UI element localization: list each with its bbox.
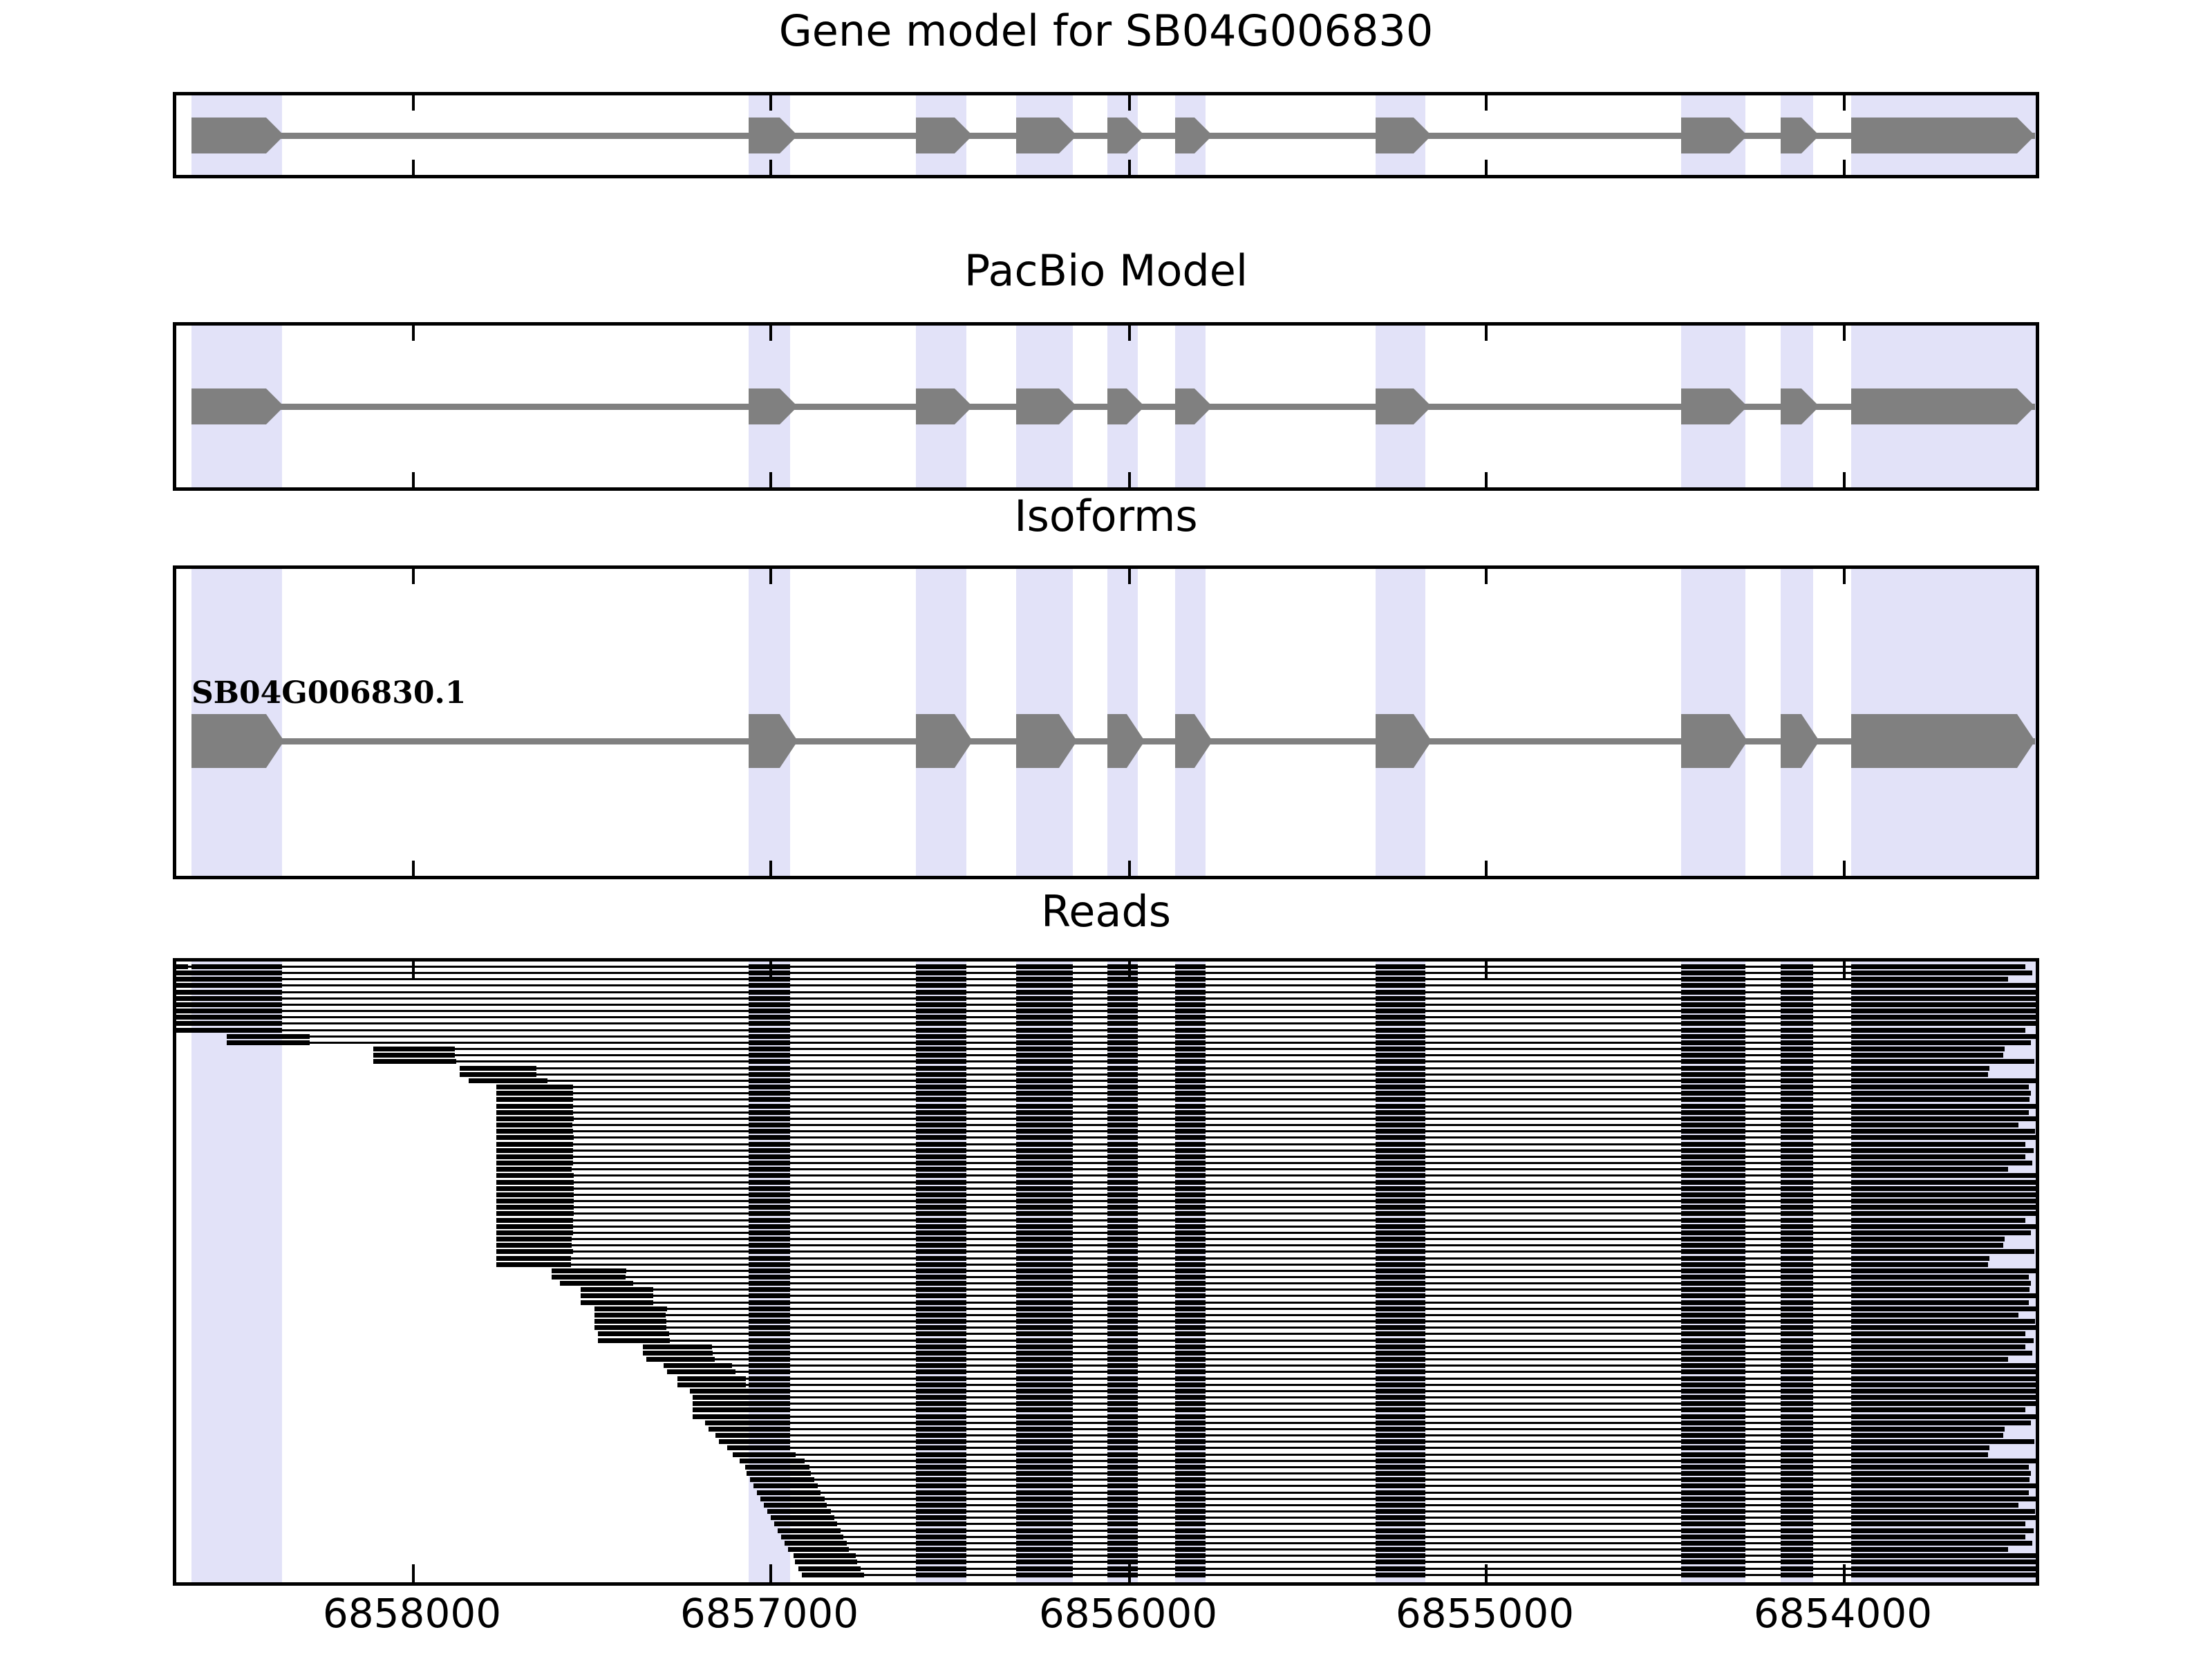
read-exon-block (1107, 1148, 1138, 1153)
read-start-block (795, 1559, 857, 1564)
read-exon-block (1781, 1465, 1813, 1470)
exon-block (749, 714, 798, 768)
read-exon-block (1175, 1459, 1206, 1463)
read-exon-block (1781, 1528, 1813, 1533)
read-start-block (496, 1186, 574, 1191)
read-exon-block (1107, 1427, 1138, 1432)
read-exon-block (1175, 1015, 1206, 1020)
read-exon-block (1016, 1287, 1073, 1292)
read-exon-block (1016, 1091, 1073, 1096)
read-exon-block (1175, 1180, 1206, 1185)
read-exon-block (1107, 1559, 1138, 1564)
read-exon-block (749, 1097, 790, 1102)
read-exon-block (1781, 1421, 1813, 1425)
read-exon-block (749, 1021, 790, 1026)
read-exon-block (1781, 1407, 1813, 1412)
read-exon-block (1175, 1547, 1206, 1552)
read-start-block (785, 1541, 847, 1546)
read-exon-block (749, 1180, 790, 1185)
read-exon-block (916, 1015, 966, 1020)
read-end-block (1976, 1173, 2038, 1178)
read-exon-block (1107, 1389, 1138, 1394)
read-exon-block (1376, 1528, 1425, 1533)
read-start-block (173, 1028, 249, 1033)
read-exon-block (749, 1313, 790, 1318)
read-start-block (496, 1262, 571, 1267)
read-exon-block (1016, 1395, 1073, 1400)
read-exon-block (749, 1161, 790, 1165)
read-exon-block (1376, 1535, 1425, 1539)
read-exon-block (1781, 1477, 1813, 1482)
read-exon-block (1175, 1521, 1206, 1526)
read-start-block (227, 1040, 310, 1045)
read-exon-block (916, 1414, 966, 1419)
read-exon-block (749, 1072, 790, 1077)
read-exon-block (1376, 1002, 1425, 1007)
read-exon-block (1175, 1421, 1206, 1425)
read-exon-block (916, 1205, 966, 1210)
axis-tick (1128, 569, 1131, 584)
read-exon-block (1781, 1148, 1813, 1153)
read-exon-block (1781, 1351, 1813, 1356)
read-end-block (1983, 1541, 2032, 1546)
read-exon-block (1016, 1351, 1073, 1356)
read-end-block (1928, 1066, 1989, 1071)
read-start-block (552, 1275, 626, 1280)
read-exon-block (1681, 1040, 1745, 1045)
read-start-block (750, 1477, 814, 1482)
read-exon-block (1376, 1313, 1425, 1318)
exon-block (749, 118, 798, 153)
read-exon-block (916, 1268, 966, 1273)
read-exon-block (1781, 1497, 1813, 1501)
read-start-block (173, 983, 206, 988)
read-exon-block (1376, 1199, 1425, 1203)
read-exon-block (1107, 1173, 1138, 1178)
read-exon-block (1016, 1445, 1073, 1450)
axis-tick (1485, 472, 1488, 487)
read-exon-block (1016, 1129, 1073, 1134)
read-exon-block (916, 1097, 966, 1102)
read-end-block (1972, 1407, 2025, 1412)
read-exon-block (916, 1116, 966, 1121)
read-exon-block (1107, 1407, 1138, 1412)
read-exon-block (749, 1369, 790, 1374)
read-exon-block (1016, 1211, 1073, 1216)
read-exon-block (749, 1306, 790, 1311)
read-exon-block (1107, 1344, 1138, 1349)
read-exon-block (1781, 1129, 1813, 1134)
read-exon-block (1016, 1243, 1073, 1248)
read-intron-line (643, 1352, 2032, 1354)
read-exon-block (1376, 1452, 1425, 1457)
read-intron-line (173, 1016, 2039, 1018)
read-start-block (496, 1256, 571, 1261)
read-exon-block (1781, 1515, 1813, 1520)
read-exon-block (1376, 1192, 1425, 1197)
read-exon-block (1781, 1445, 1813, 1450)
read-exon-block (1016, 1148, 1073, 1153)
read-exon-block (1781, 1078, 1813, 1083)
read-exon-block (1681, 1459, 1745, 1463)
read-exon-block (1376, 1154, 1425, 1159)
read-end-block (1965, 1218, 2025, 1223)
read-end-block (1974, 1224, 2036, 1229)
read-start-block (719, 1439, 785, 1444)
read-end-block (1978, 990, 2039, 995)
read-intron-line (173, 997, 2039, 1000)
read-exon-block (1376, 1142, 1425, 1147)
reads-panel (173, 958, 2039, 1586)
read-exon-block (1175, 1028, 1206, 1033)
read-end-block (1953, 1357, 2008, 1362)
axis-tick (412, 569, 415, 584)
read-exon-block (1376, 1167, 1425, 1172)
read-exon-block (1376, 1566, 1425, 1571)
read-exon-block (1781, 1211, 1813, 1216)
read-start-block (646, 1357, 715, 1362)
read-exon-block (1016, 1078, 1073, 1083)
read-exon-block (1376, 1293, 1425, 1298)
read-exon-block (1681, 1477, 1745, 1482)
read-end-block (1978, 1192, 2039, 1197)
read-exon-block (749, 1085, 790, 1089)
read-exon-block (749, 964, 790, 969)
read-exon-block (1175, 1059, 1206, 1064)
axis-tick (1485, 569, 1488, 584)
read-exon-block (1016, 1300, 1073, 1305)
read-start-block (496, 1211, 574, 1216)
read-start-block (715, 1433, 780, 1438)
read-end-block (1989, 1573, 2039, 1577)
panel-title-reads: Reads (0, 886, 2212, 937)
read-end-block (1962, 1313, 2018, 1318)
read-exon-block (749, 1015, 790, 1020)
exon-block (1781, 118, 1819, 153)
read-intron-line (173, 1004, 2039, 1006)
read-exon-block (749, 1363, 790, 1368)
read-start-block (594, 1313, 666, 1318)
read-exon-block (1376, 1091, 1425, 1096)
read-exon-block (1781, 1427, 1813, 1432)
read-end-block (1978, 1021, 2039, 1026)
read-exon-block (1016, 1325, 1073, 1330)
read-exon-block (1016, 1515, 1073, 1520)
read-exon-block (916, 1477, 966, 1482)
read-exon-block (1016, 1110, 1073, 1115)
read-exon-block (1376, 1015, 1425, 1020)
read-start-block (496, 1085, 573, 1089)
read-exon-block (1175, 1389, 1206, 1394)
read-exon-block (749, 1034, 790, 1039)
read-start-block (677, 1376, 746, 1381)
read-exon-block (1376, 1433, 1425, 1438)
read-start-block (496, 1091, 573, 1096)
read-exon-block (1016, 1218, 1073, 1223)
read-start-block (496, 1192, 574, 1197)
read-exon-block (916, 1319, 966, 1324)
read-exon-block (1107, 1072, 1138, 1077)
read-exon-block (1175, 1515, 1206, 1520)
read-end-block (1972, 1059, 2034, 1064)
read-exon-block (1681, 1573, 1745, 1577)
read-exon-block (1107, 1211, 1138, 1216)
read-intron-line (173, 1029, 2025, 1031)
read-exon-block (1107, 1369, 1138, 1374)
read-exon-block (1376, 983, 1425, 988)
read-exon-block (1175, 1344, 1206, 1349)
read-exon-block (1016, 1268, 1073, 1273)
read-end-block (1965, 1142, 2025, 1147)
read-start-block (745, 1465, 809, 1470)
read-start-block (496, 1123, 572, 1127)
read-exon-block (1376, 1325, 1425, 1330)
read-end-block (1983, 1306, 2039, 1311)
read-exon-block (1016, 1497, 1073, 1501)
read-start-block (598, 1338, 670, 1343)
read-exon-block (749, 1192, 790, 1197)
read-exon-block (1376, 1483, 1425, 1488)
read-exon-block (916, 1085, 966, 1089)
read-exon-block (1376, 1553, 1425, 1558)
read-exon-block (749, 1230, 790, 1235)
read-end-block (1978, 1009, 2039, 1013)
read-exon-block (1107, 1515, 1138, 1520)
read-exon-block (1175, 1331, 1206, 1336)
read-end-block (1979, 1116, 2039, 1121)
read-exon-block (1681, 1452, 1745, 1457)
read-end-block (1978, 1477, 2030, 1482)
read-exon-block (1175, 1192, 1206, 1197)
read-exon-block (916, 1559, 966, 1564)
read-exon-block (749, 1129, 790, 1134)
read-exon-block (916, 1483, 966, 1488)
read-exon-block (1376, 1034, 1425, 1039)
read-exon-block (1016, 1256, 1073, 1261)
read-exon-block (1175, 1040, 1206, 1045)
read-exon-block (916, 1503, 966, 1508)
read-exon-block (1016, 1477, 1073, 1482)
read-end-block (1982, 1439, 2034, 1444)
read-exon-block (1107, 1053, 1138, 1058)
read-exon-block (1681, 1300, 1745, 1305)
read-exon-block (1175, 983, 1206, 988)
exon-block (749, 388, 798, 424)
read-exon-block (916, 1180, 966, 1185)
read-exon-block (1107, 1573, 1138, 1577)
read-start-block (594, 1319, 666, 1324)
read-exon-block (1781, 1338, 1813, 1343)
read-exon-block (1681, 1515, 1745, 1520)
read-exon-block (1376, 1497, 1425, 1501)
read-exon-block (1107, 1009, 1138, 1013)
exon-block (1175, 388, 1212, 424)
read-exon-block (1016, 1465, 1073, 1470)
read-start-block (757, 1490, 821, 1495)
read-exon-block (1016, 1547, 1073, 1552)
read-exon-block (1781, 1521, 1813, 1526)
read-end-block (1927, 1072, 1988, 1077)
read-exon-block (1681, 1313, 1745, 1318)
read-exon-block (749, 1211, 790, 1216)
read-exon-block (1781, 1382, 1813, 1387)
read-exon-block (916, 1459, 966, 1463)
read-exon-block (749, 1199, 790, 1203)
axis-tick (769, 1564, 772, 1582)
read-exon-block (1781, 1218, 1813, 1223)
read-exon-block (1376, 1009, 1425, 1013)
read-exon-block (1781, 1104, 1813, 1109)
panel-title-pacbio-model: PacBio Model (0, 245, 2212, 296)
read-exon-block (1107, 1256, 1138, 1261)
read-exon-block (1681, 1066, 1745, 1071)
read-exon-block (1016, 1293, 1073, 1298)
read-exon-block (1781, 1535, 1813, 1539)
read-exon-block (916, 1509, 966, 1514)
read-exon-block (916, 983, 966, 988)
read-exon-block (1175, 1167, 1206, 1172)
read-exon-block (1781, 977, 1813, 982)
read-exon-block (1376, 1573, 1425, 1577)
read-exon-block (1681, 1237, 1745, 1241)
read-exon-block (1376, 1421, 1425, 1425)
read-start-block (496, 1129, 573, 1134)
read-exon-block (1175, 1287, 1206, 1292)
read-exon-block (1781, 1205, 1813, 1210)
read-exon-block (916, 1142, 966, 1147)
axis-tick (1843, 160, 1846, 175)
read-intron-line (173, 1010, 2039, 1012)
read-exon-block (749, 996, 790, 1001)
read-exon-block (1016, 977, 1073, 982)
read-exon-block (1016, 1173, 1073, 1178)
read-exon-block (1681, 1180, 1745, 1185)
read-end-block (1987, 1389, 2039, 1394)
read-end-block (1969, 1040, 2031, 1045)
read-start-block (594, 1325, 666, 1330)
read-exon-block (1681, 1376, 1745, 1381)
read-start-block (598, 1331, 669, 1336)
read-exon-block (1016, 1281, 1073, 1286)
read-exon-block (1376, 1161, 1425, 1165)
read-exon-block (1107, 1066, 1138, 1071)
read-end-block (1979, 1180, 2039, 1185)
read-exon-block (916, 1427, 966, 1432)
read-exon-block (1781, 1363, 1813, 1368)
read-end-block (1976, 1338, 2034, 1343)
axis-tick (1128, 326, 1131, 341)
read-exon-block (1175, 1528, 1206, 1533)
read-exon-block (1376, 1515, 1425, 1520)
read-exon-block (1681, 1085, 1745, 1089)
read-exon-block (1681, 1015, 1745, 1020)
read-exon-block (749, 1142, 790, 1147)
exon-block (1175, 714, 1212, 768)
read-exon-block (1781, 1002, 1813, 1007)
read-exon-block (1107, 1401, 1138, 1406)
read-exon-block (1107, 1186, 1138, 1191)
read-exon-block (1175, 1414, 1206, 1419)
read-end-block (1973, 1249, 2034, 1254)
read-start-block (552, 1268, 626, 1273)
read-exon-block (916, 1110, 966, 1115)
read-intron-line (460, 1074, 1988, 1076)
read-exon-block (1376, 1306, 1425, 1311)
exon-block (1107, 714, 1145, 768)
read-exon-block (1175, 1110, 1206, 1115)
read-exon-block (1175, 1123, 1206, 1127)
read-end-block (1987, 1515, 2038, 1520)
read-exon-block (1376, 1389, 1425, 1394)
read-exon-block (1781, 1047, 1813, 1051)
read-end-block (1953, 1427, 2005, 1432)
read-exon-block (916, 1471, 966, 1476)
axis-tick (769, 160, 772, 175)
read-exon-block (1376, 964, 1425, 969)
read-exon-block (1016, 1104, 1073, 1109)
read-exon-block (1376, 1376, 1425, 1381)
read-end-block (1970, 1344, 2025, 1349)
read-start-block (705, 1421, 771, 1425)
read-exon-block (1016, 1034, 1073, 1039)
read-start-block (727, 1445, 790, 1450)
read-exon-block (1781, 1243, 1813, 1248)
read-exon-block (1107, 1541, 1138, 1546)
read-start-block (771, 1515, 834, 1520)
read-exon-block (1107, 1293, 1138, 1298)
exon-block (1781, 388, 1819, 424)
read-intron-line (643, 1346, 2025, 1348)
axis-tick (1128, 861, 1131, 876)
read-start-block (496, 1180, 574, 1185)
read-exon-block (1016, 1205, 1073, 1210)
read-exon-block (1107, 1287, 1138, 1292)
read-exon-block (1781, 1015, 1813, 1020)
read-exon-block (1175, 1078, 1206, 1083)
read-exon-block (1781, 1553, 1813, 1558)
read-exon-block (1107, 1015, 1138, 1020)
read-exon-block (1781, 1313, 1813, 1318)
read-exon-block (749, 971, 790, 975)
read-exon-block (1175, 1497, 1206, 1501)
read-exon-block (1376, 1414, 1425, 1419)
axis-tick (412, 962, 415, 980)
read-intron-line (496, 1238, 2005, 1240)
read-start-block (173, 990, 206, 995)
read-exon-block (1376, 1135, 1425, 1140)
read-exon-block (916, 1369, 966, 1374)
read-exon-block (916, 1199, 966, 1203)
read-exon-block (1681, 990, 1745, 995)
read-start-block (788, 1547, 849, 1552)
read-exon-block (1107, 1205, 1138, 1210)
read-exon-block (749, 1376, 790, 1381)
read-end-block (1948, 1167, 2008, 1172)
read-exon-block (1376, 1078, 1425, 1083)
read-end-block (1969, 1091, 2031, 1096)
read-exon-block (1376, 1085, 1425, 1089)
read-exon-block (1175, 1509, 1206, 1514)
read-exon-block (1781, 1072, 1813, 1077)
read-exon-block (1681, 1148, 1745, 1153)
read-end-block (1977, 1002, 2039, 1007)
read-exon-block (1175, 1268, 1206, 1273)
read-end-block (1974, 1129, 2035, 1134)
read-exon-block (1681, 1186, 1745, 1191)
read-exon-block (916, 1211, 966, 1216)
read-exon-block (1781, 1483, 1813, 1488)
read-end-block (1984, 996, 2039, 1001)
